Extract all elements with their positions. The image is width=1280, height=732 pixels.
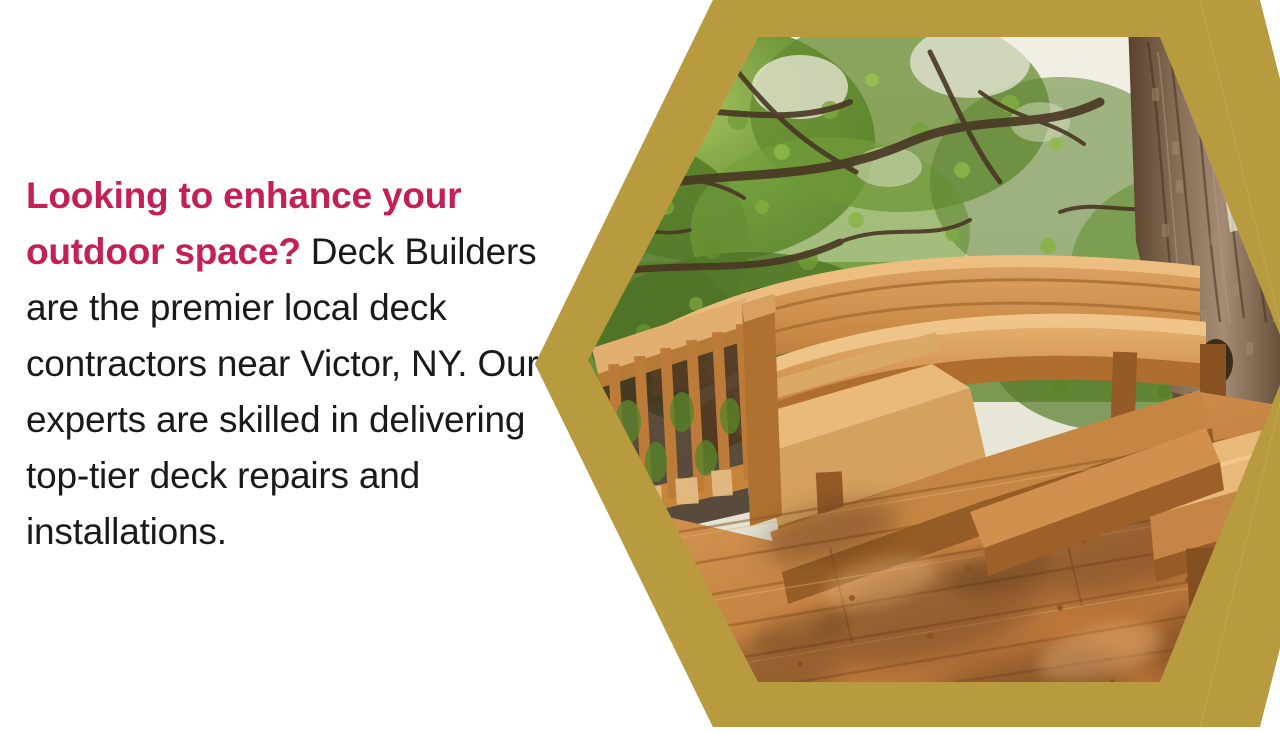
deck-photo-hexagon (500, 12, 1280, 732)
copy-block: Looking to enhance your outdoor space? D… (26, 168, 566, 560)
hexagon-artwork (500, 0, 1280, 732)
headline-body: Deck Builders are the premier local deck… (26, 231, 539, 552)
slide-canvas: Looking to enhance your outdoor space? D… (0, 0, 1280, 720)
gold-hexagon-bottom-band (713, 682, 1200, 727)
headline-paragraph: Looking to enhance your outdoor space? D… (26, 168, 566, 560)
gold-hexagon-top-band (713, 0, 1200, 37)
